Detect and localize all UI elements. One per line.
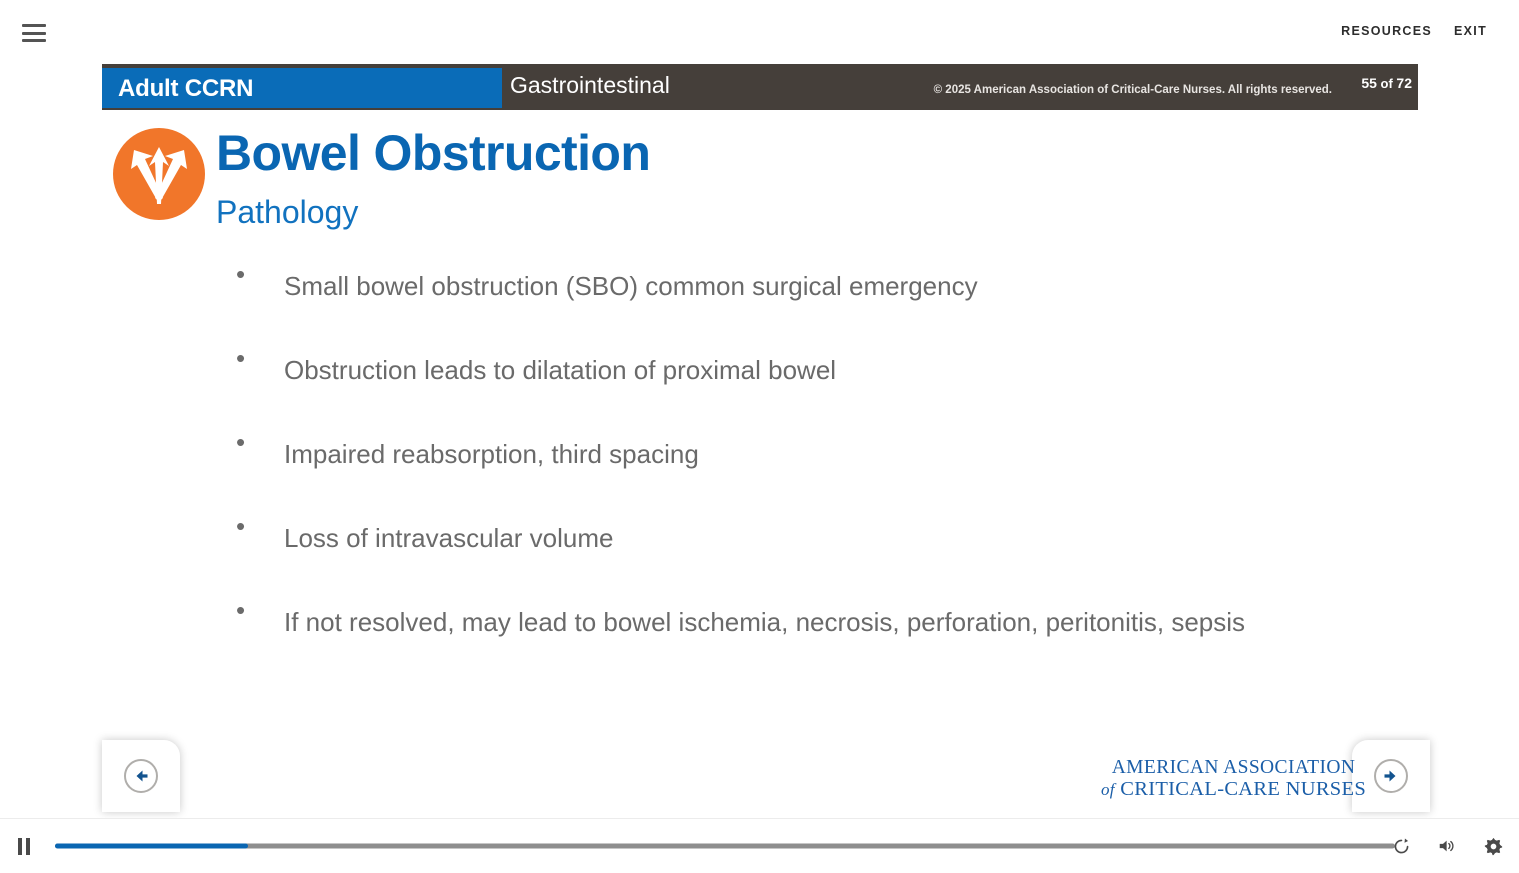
player-bar — [0, 818, 1519, 873]
resources-link[interactable]: RESOURCES — [1341, 24, 1432, 38]
list-item: • If not resolved, may lead to bowel isc… — [228, 592, 1348, 652]
bullet-marker: • — [228, 256, 284, 292]
bullet-marker: • — [228, 592, 284, 628]
copyright-text: © 2025 American Association of Critical-… — [934, 84, 1332, 96]
gear-icon[interactable] — [1483, 836, 1503, 856]
list-item-text: Impaired reabsorption, third spacing — [284, 424, 1348, 484]
arrow-left-icon[interactable] — [124, 759, 158, 793]
list-item: • Obstruction leads to dilatation of pro… — [228, 340, 1348, 400]
diverging-arrows-icon — [113, 128, 205, 220]
top-nav: RESOURCES EXIT — [1341, 24, 1487, 38]
progress-scrubber[interactable] — [55, 844, 1395, 849]
page-current: 55 — [1361, 75, 1377, 91]
exit-link[interactable]: EXIT — [1454, 24, 1487, 38]
aacn-logo-of: of — [1101, 780, 1115, 799]
list-item-text: Obstruction leads to dilatation of proxi… — [284, 340, 1348, 400]
top-bar: RESOURCES EXIT — [0, 0, 1519, 62]
progress-fill — [55, 844, 248, 849]
aacn-logo-line2: of CRITICAL-CARE NURSES — [1101, 778, 1366, 800]
list-item-text: If not resolved, may lead to bowel ische… — [284, 592, 1348, 652]
page-separator: of — [1377, 76, 1397, 91]
page-total: 72 — [1396, 75, 1412, 91]
slide-content: Bowel Obstruction Pathology • Small bowe… — [0, 110, 1519, 730]
pause-bar — [18, 838, 22, 855]
replay-icon[interactable] — [1391, 836, 1411, 856]
course-title: Adult CCRN — [118, 75, 253, 103]
slide-player: RESOURCES EXIT Adult CCRN Gastrointestin… — [0, 0, 1519, 873]
aacn-logo: AMERICAN ASSOCIATION of CRITICAL-CARE NU… — [1101, 757, 1366, 800]
page-indicator: 55 of 72 — [1361, 75, 1412, 91]
arrow-right-icon[interactable] — [1374, 759, 1408, 793]
player-controls — [1391, 836, 1503, 856]
hamburger-bar — [22, 32, 46, 35]
aacn-logo-line1: AMERICAN ASSOCIATION — [1101, 757, 1366, 778]
bullet-marker: • — [228, 340, 284, 376]
list-item: • Small bowel obstruction (SBO) common s… — [228, 256, 1348, 316]
hamburger-bar — [22, 24, 46, 27]
hamburger-bar — [22, 39, 46, 42]
course-header-band: Adult CCRN Gastrointestinal © 2025 Ameri… — [102, 64, 1418, 110]
page-title: Bowel Obstruction — [216, 128, 650, 178]
list-item-text: Loss of intravascular volume — [284, 508, 1348, 568]
section-title: Gastrointestinal — [510, 72, 670, 99]
bullet-list: • Small bowel obstruction (SBO) common s… — [228, 256, 1348, 676]
pause-icon[interactable] — [18, 837, 38, 855]
hamburger-icon[interactable] — [22, 24, 46, 42]
prev-slide-panel[interactable] — [102, 740, 180, 812]
list-item-text: Small bowel obstruction (SBO) common sur… — [284, 256, 1348, 316]
bullet-marker: • — [228, 508, 284, 544]
aacn-logo-line2-text: CRITICAL-CARE NURSES — [1120, 778, 1366, 800]
page-subtitle: Pathology — [216, 196, 358, 228]
pause-bar — [26, 838, 30, 855]
list-item: • Impaired reabsorption, third spacing — [228, 424, 1348, 484]
volume-icon[interactable] — [1437, 836, 1457, 856]
bullet-marker: • — [228, 424, 284, 460]
list-item: • Loss of intravascular volume — [228, 508, 1348, 568]
